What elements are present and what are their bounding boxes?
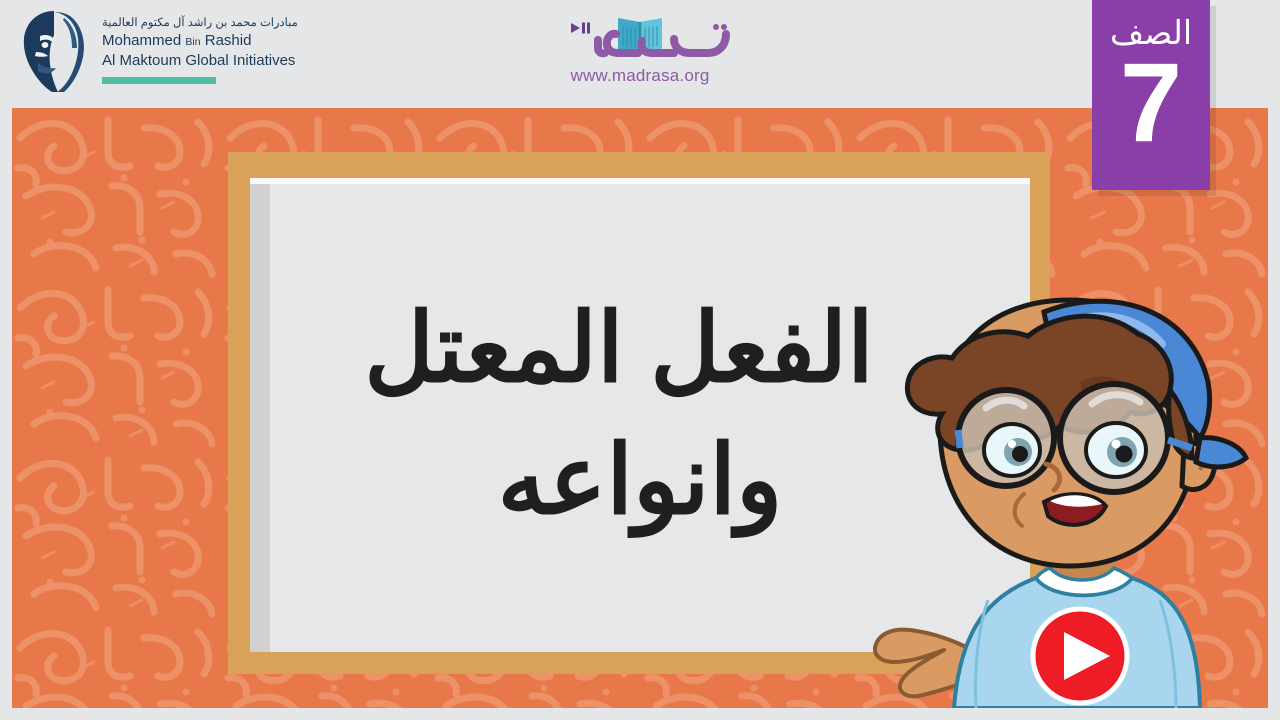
mbr-english-name-line1: Mohammed Bin Rashid — [102, 31, 298, 51]
mbr-portrait-emblem-icon — [14, 8, 92, 94]
mbr-logo-text: مبادرات محمد بن راشد آل مكتوم العالمية M… — [102, 8, 298, 84]
youtube-play-button[interactable] — [1033, 609, 1127, 703]
play-pause-icon — [571, 23, 590, 34]
mbr-global-initiatives-logo: مبادرات محمد بن راشد آل مكتوم العالمية M… — [14, 8, 344, 100]
mbr-name-last: Rashid — [201, 32, 252, 49]
grade-number: 7 — [1120, 51, 1182, 154]
cartoon-boy-presenter — [848, 278, 1268, 708]
slide-body: الفعل المعتل وانواعه — [12, 108, 1268, 708]
slide-screenshot: مبادرات محمد بن راشد آل مكتوم العالمية M… — [0, 0, 1280, 720]
header-bar: مبادرات محمد بن راشد آل مكتوم العالمية M… — [0, 0, 1280, 108]
mbr-accent-bar — [102, 77, 216, 84]
madrasa-wordmark — [540, 10, 740, 68]
whiteboard-left-shadow-band — [250, 184, 270, 652]
madrasa-wordmark-icon — [540, 10, 740, 68]
madrasa-url-text: www.madrasa.org — [540, 66, 740, 86]
mbr-name-bin: Bin — [185, 36, 200, 48]
mbr-arabic-name: مبادرات محمد بن راشد آل مكتوم العالمية — [102, 16, 298, 30]
mbr-english-name-line2: Al Maktoum Global Initiatives — [102, 51, 298, 71]
boy-mouth — [1044, 494, 1106, 525]
grade-badge: الصف 7 — [1092, 0, 1210, 190]
mbr-name-first: Mohammed — [102, 32, 185, 49]
madrasa-logo[interactable]: www.madrasa.org — [540, 10, 740, 98]
